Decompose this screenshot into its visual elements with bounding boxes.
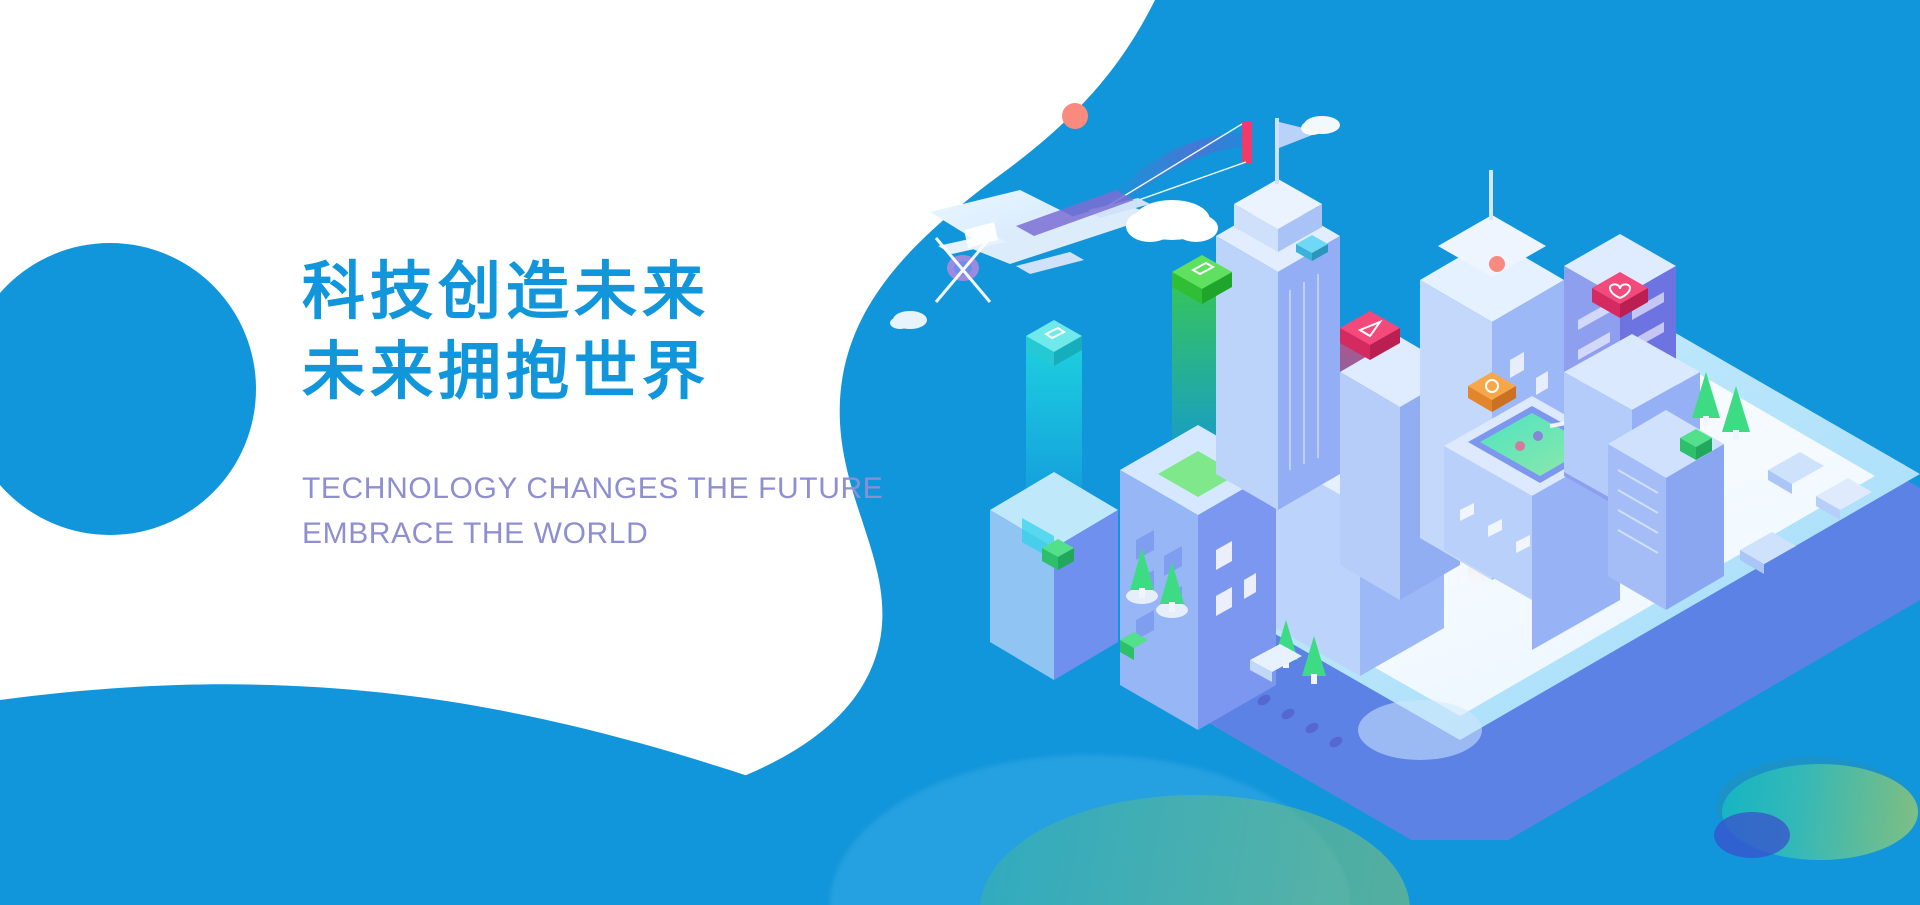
text-block: 科技创造未来 未来拥抱世界 TECHNOLOGY CHANGES THE FUT…: [302, 252, 862, 556]
cloud-small: [1301, 116, 1340, 135]
isometric-city-illustration: [820, 40, 1920, 840]
headline-line-2: 未来拥抱世界: [302, 332, 862, 412]
dot-pink: [1489, 256, 1505, 272]
subtitle-line-2: EMBRACE THE WORLD: [302, 511, 862, 556]
hero-banner: 科技创造未来 未来拥抱世界 TECHNOLOGY CHANGES THE FUT…: [0, 0, 1920, 905]
headline-line-1: 科技创造未来: [302, 252, 862, 332]
dot-salmon: [1062, 103, 1088, 129]
building-flag-tower: [1216, 118, 1340, 510]
building-cyan: [990, 472, 1118, 680]
cloud-tiny: [890, 311, 927, 329]
subtitle-block: TECHNOLOGY CHANGES THE FUTURE EMBRACE TH…: [302, 466, 862, 556]
subtitle-line-1: TECHNOLOGY CHANGES THE FUTURE: [302, 466, 862, 511]
